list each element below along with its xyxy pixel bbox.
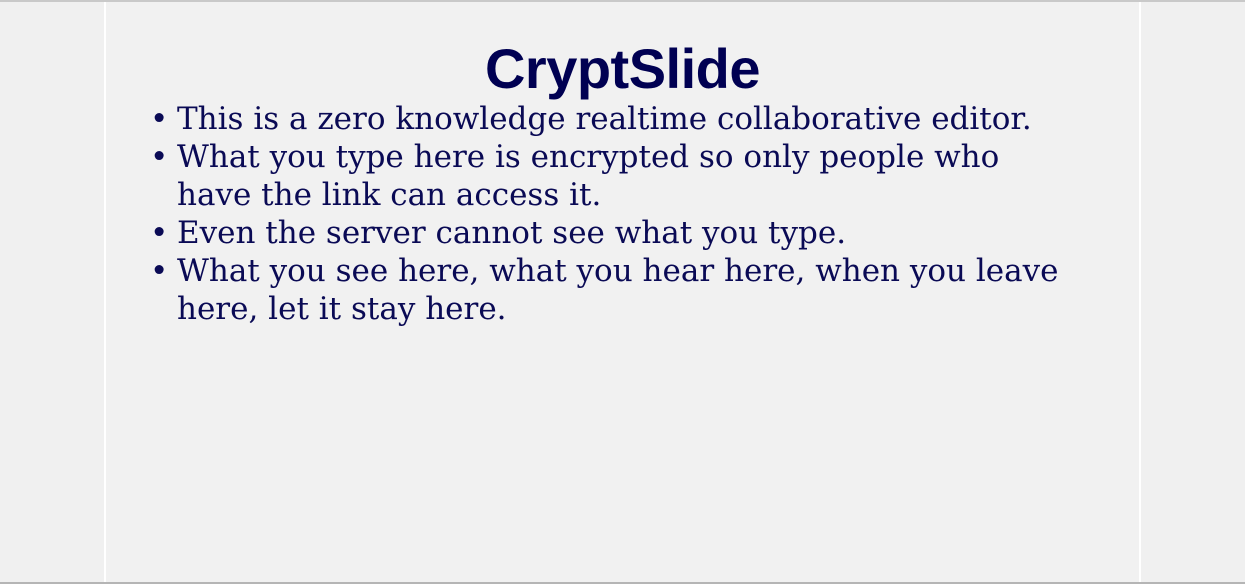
slide-title: CryptSlide — [106, 2, 1139, 100]
bullet-item-text: What you see here, what you hear here, w… — [177, 252, 1079, 328]
bullet-point-icon: • — [150, 252, 168, 290]
bullet-item-4: • What you see here, what you hear here,… — [106, 252, 1139, 328]
presentation-viewport: CryptSlide • This is a zero knowledge re… — [0, 0, 1245, 584]
bullet-item-1: • This is a zero knowledge realtime coll… — [106, 100, 1139, 138]
bullet-point-icon: • — [150, 214, 168, 252]
bullet-item-2: • What you type here is encrypted so onl… — [106, 138, 1139, 214]
slide-bullet-list: • This is a zero knowledge realtime coll… — [106, 100, 1139, 328]
bullet-item-text: Even the server cannot see what you type… — [177, 214, 1079, 252]
left-gutter — [0, 2, 104, 582]
bullet-item-3: • Even the server cannot see what you ty… — [106, 214, 1139, 252]
bullet-item-text: This is a zero knowledge realtime collab… — [177, 100, 1079, 138]
bullet-point-icon: • — [150, 100, 168, 138]
slide-canvas[interactable]: CryptSlide • This is a zero knowledge re… — [106, 2, 1139, 582]
slide-right-divider — [1139, 2, 1141, 582]
bullet-point-icon: • — [150, 138, 168, 176]
right-gutter — [1141, 2, 1245, 582]
bullet-item-text: What you type here is encrypted so only … — [177, 138, 1079, 214]
